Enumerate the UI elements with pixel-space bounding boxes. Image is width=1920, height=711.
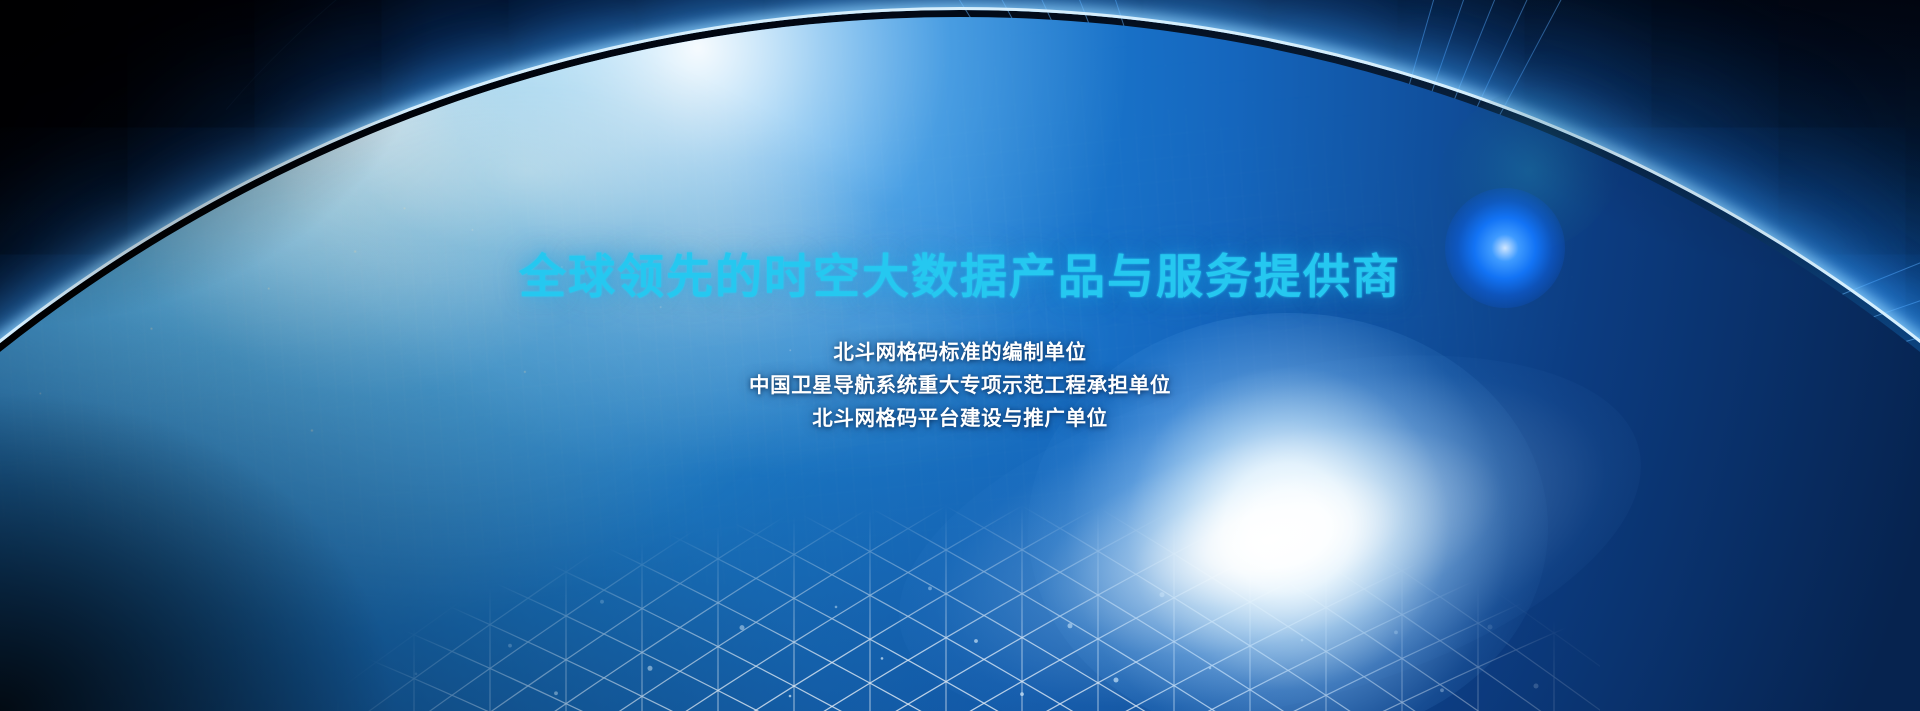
cube-grid-node: [415, 673, 418, 676]
cube-grid-node: [789, 695, 792, 698]
cube-grid-line: [300, 441, 908, 711]
cube-grid-node: [740, 625, 745, 630]
cube-grid-node: [600, 600, 604, 604]
cube-grid-line: [300, 459, 604, 711]
cube-grid-node: [508, 644, 512, 648]
cube-grid-node: [835, 606, 838, 609]
cube-grid-node: [1534, 684, 1539, 689]
cube-grid-node: [369, 626, 372, 629]
cube-grid-node: [554, 691, 558, 695]
cube-grid-node: [881, 657, 884, 660]
lens-flare-orb-icon: [1445, 188, 1565, 308]
cube-grid-node: [648, 666, 653, 671]
cube-grid-line: [300, 476, 452, 711]
hero-banner: 全球领先的时空大数据产品与服务提供商 北斗网格码标准的编制单位 中国卫星导航系统…: [0, 0, 1920, 711]
